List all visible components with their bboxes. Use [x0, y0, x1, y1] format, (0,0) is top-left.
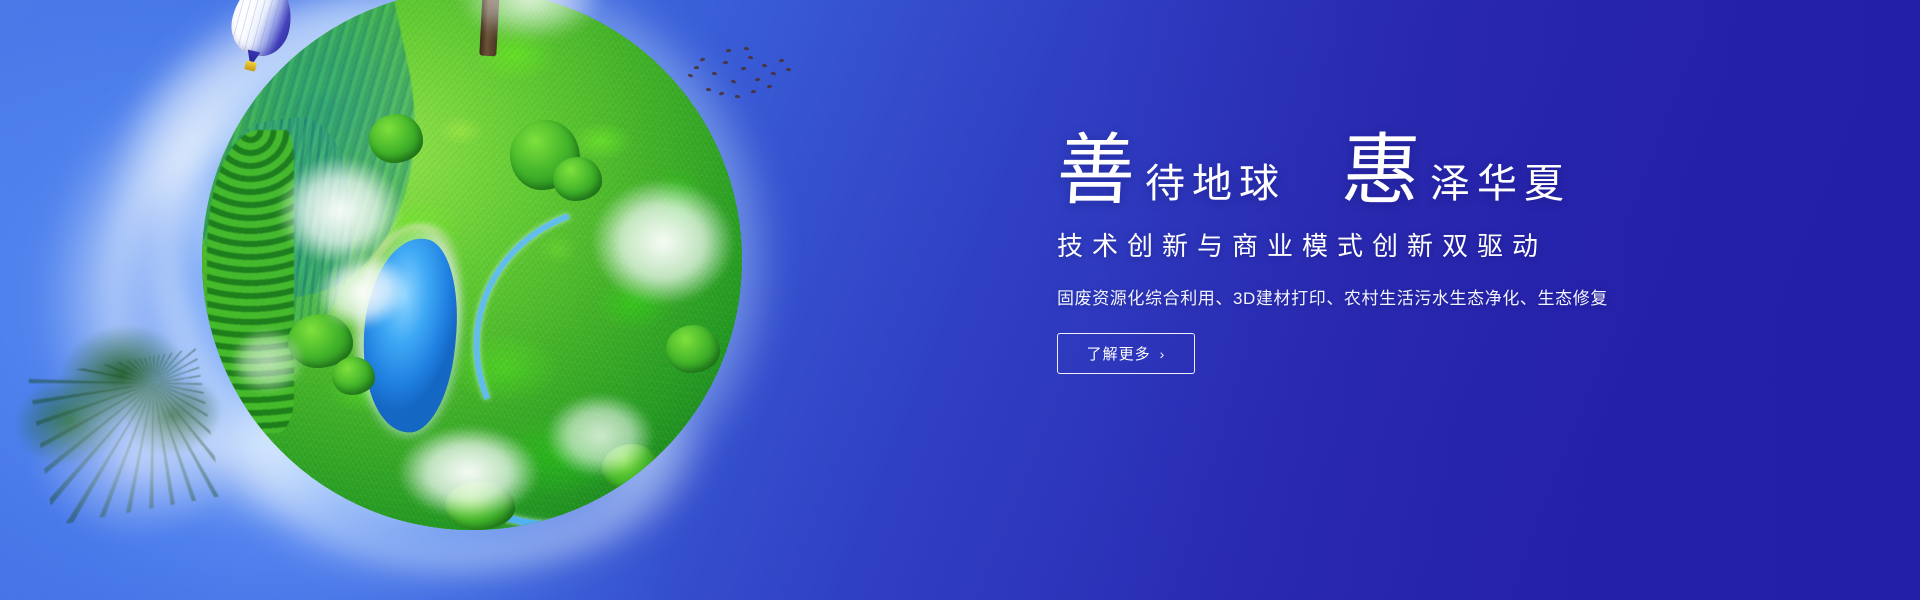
- headline-char-2: 惠: [1340, 132, 1422, 210]
- headline-text-1: 待地球: [1145, 164, 1286, 204]
- hero-description: 固废资源化综合利用、3D建材打印、农村生活污水生态净化、生态修复: [1057, 284, 1817, 309]
- headline-char-1: 善: [1055, 132, 1137, 210]
- learn-more-button[interactable]: 了解更多 ›: [1057, 333, 1195, 374]
- learn-more-label: 了解更多: [1087, 343, 1151, 364]
- chevron-right-icon: ›: [1160, 347, 1166, 361]
- headline-text-2: 泽华夏: [1430, 164, 1571, 204]
- hero-copy: 善 待地球 惠 泽华夏 技术创新与商业模式创新双驱动 固废资源化综合利用、3D建…: [1057, 132, 1817, 374]
- page-title: 善 待地球 惠 泽华夏: [1057, 132, 1817, 210]
- hero-subtitle: 技术创新与商业模式创新双驱动: [1057, 226, 1817, 263]
- hero-banner: 善 待地球 惠 泽华夏 技术创新与商业模式创新双驱动 固废资源化综合利用、3D建…: [0, 0, 1920, 600]
